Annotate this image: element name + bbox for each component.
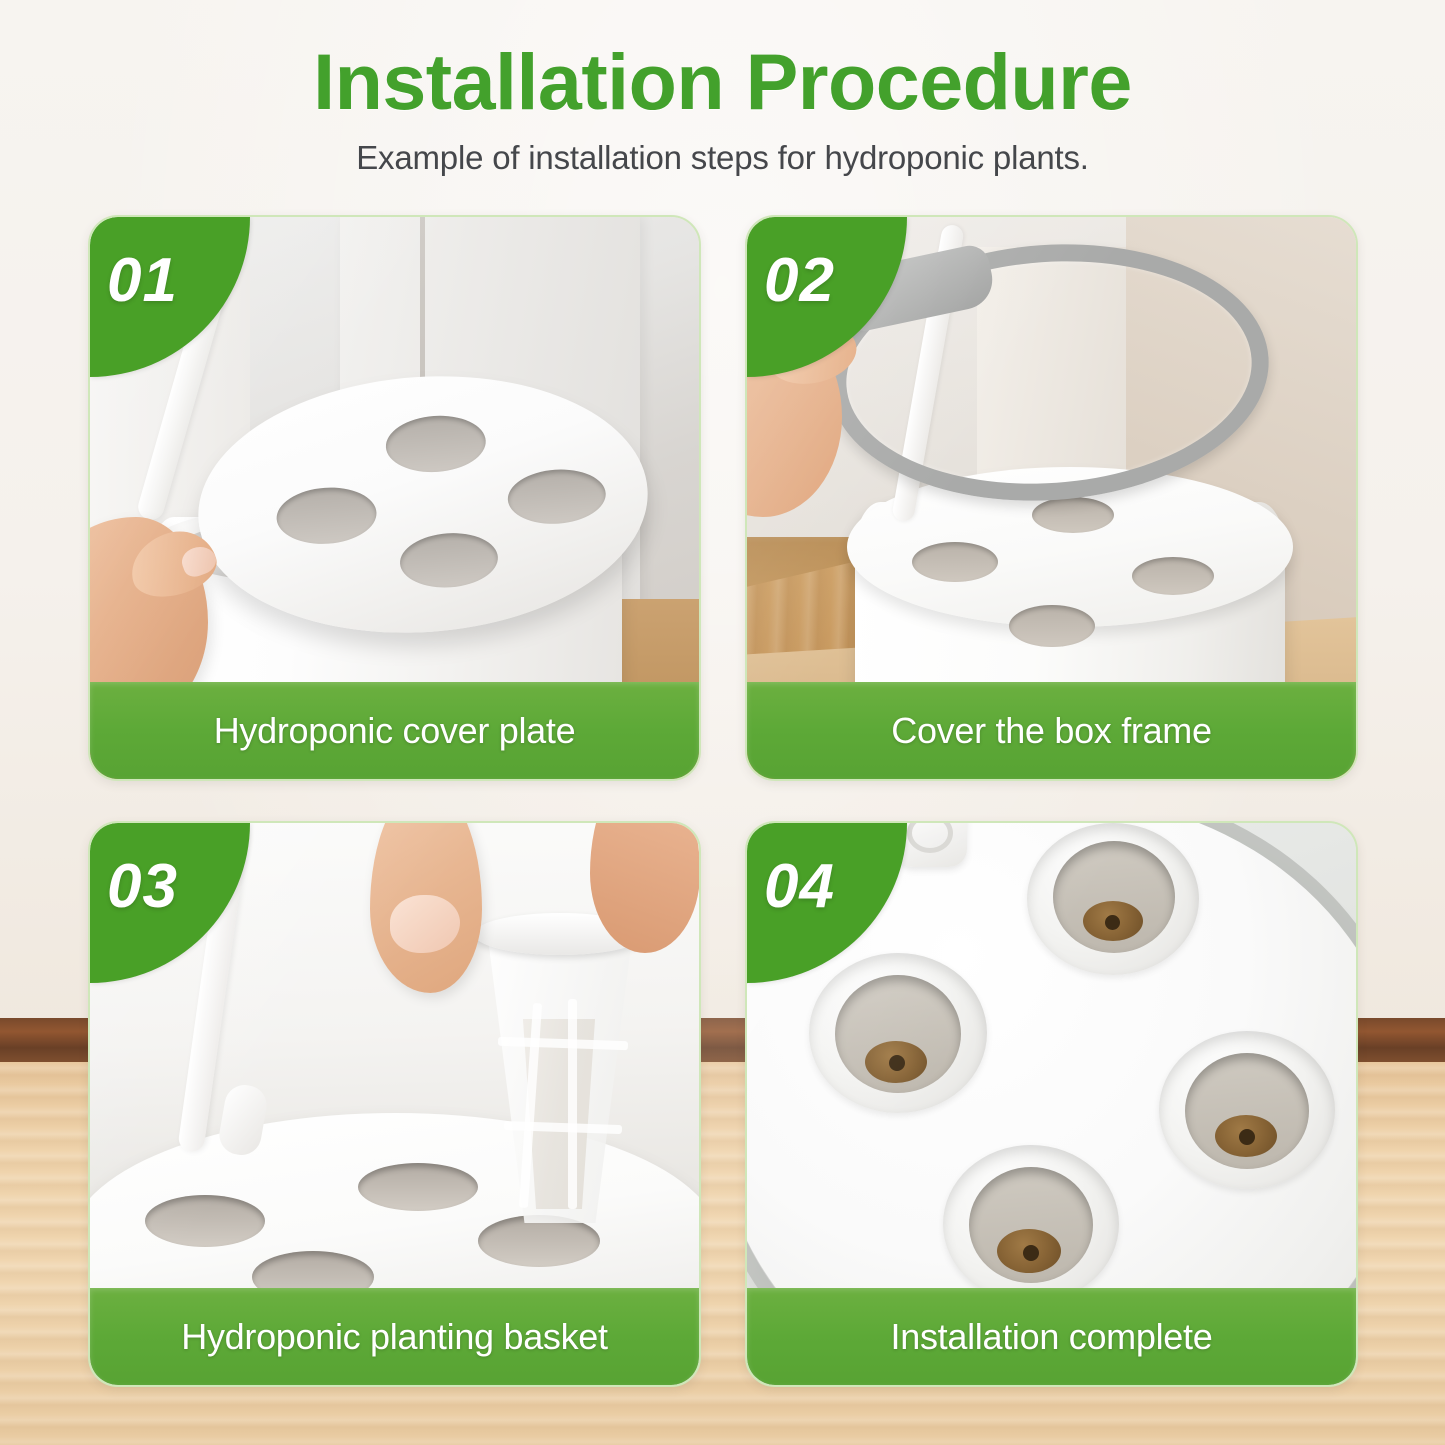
step-number-01: 01 (107, 245, 178, 316)
page-subtitle: Example of installation steps for hydrop… (0, 136, 1445, 180)
step-caption-text-02: Cover the box frame (873, 710, 1229, 752)
step-number-03: 03 (107, 851, 178, 922)
step-caption-bar-03: Hydroponic planting basket (90, 1288, 699, 1385)
step-card-03[interactable]: 03 Hydroponic planting basket (88, 821, 701, 1387)
step-caption-bar-02: Cover the box frame (747, 682, 1356, 779)
step-number-02: 02 (764, 245, 835, 316)
step-caption-text-03: Hydroponic planting basket (163, 1316, 625, 1358)
step-card-01[interactable]: 01 Hydroponic cover plate (88, 215, 701, 781)
step-card-02[interactable]: 02 Cover the box frame (745, 215, 1358, 781)
step-caption-bar-01: Hydroponic cover plate (90, 682, 699, 779)
step-card-04[interactable]: 04 Installation complete (745, 821, 1358, 1387)
step-caption-text-01: Hydroponic cover plate (196, 710, 594, 752)
step-number-04: 04 (764, 851, 835, 922)
steps-grid: 01 Hydroponic cover plate (88, 215, 1358, 1387)
step-caption-bar-04: Installation complete (747, 1288, 1356, 1385)
step-caption-text-04: Installation complete (873, 1316, 1231, 1358)
infographic-page: Installation Procedure Example of instal… (0, 0, 1445, 1445)
header: Installation Procedure Example of instal… (0, 34, 1445, 180)
page-title: Installation Procedure (0, 34, 1445, 130)
